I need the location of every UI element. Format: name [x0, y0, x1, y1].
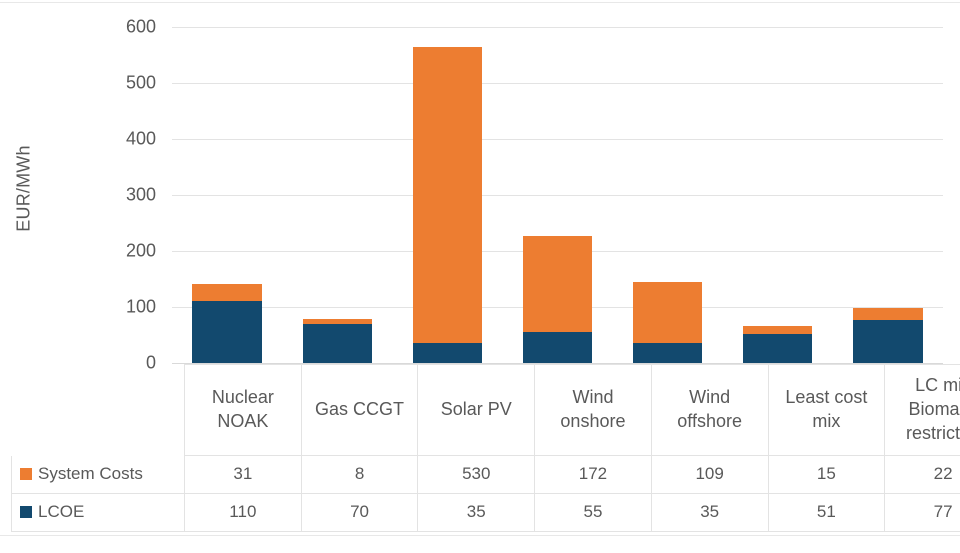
- bar-series-group: [172, 27, 943, 363]
- data-table: NuclearNOAKGas CCGTSolar PVWindonshoreWi…: [11, 364, 960, 532]
- table-cell-value: 55: [535, 494, 652, 532]
- table-cell-value: 8: [301, 456, 418, 494]
- category-label-line: onshore: [538, 410, 648, 434]
- y-tick-label-100: 100: [96, 297, 156, 318]
- table-row: System Costs3185301721091522: [12, 456, 960, 494]
- table-cell-value: 35: [418, 494, 535, 532]
- bar-segment-lcoe[interactable]: [743, 334, 812, 363]
- y-tick-label-400: 400: [96, 129, 156, 150]
- bar-column: [833, 27, 943, 363]
- category-label-line: Nuclear: [188, 386, 298, 410]
- category-header-cell: Least costmix: [768, 365, 885, 456]
- bar-stack[interactable]: [303, 319, 372, 363]
- table-cell-value: 530: [418, 456, 535, 494]
- legend-swatch-icon: [20, 468, 32, 480]
- category-header-cell: LC mixBiomassrestricted: [885, 365, 960, 456]
- table-cell-value: 109: [651, 456, 768, 494]
- category-label-line: offshore: [655, 410, 765, 434]
- category-label-line: restricted: [888, 422, 960, 446]
- category-label-line: Solar PV: [421, 398, 531, 422]
- table-cell-value: 22: [885, 456, 960, 494]
- bar-segment-system-costs[interactable]: [523, 236, 592, 332]
- bar-stack[interactable]: [853, 308, 922, 363]
- category-label-line: Least cost: [772, 386, 882, 410]
- table-row-categories: NuclearNOAKGas CCGTSolar PVWindonshoreWi…: [12, 365, 960, 456]
- bar-stack[interactable]: [413, 47, 482, 363]
- top-divider: [0, 2, 960, 3]
- y-axis-ticks: 0100200300400500600: [96, 27, 156, 363]
- bar-segment-lcoe[interactable]: [633, 343, 702, 363]
- chart-container: EUR/MWh 0100200300400500600 NuclearNOAKG…: [0, 0, 960, 553]
- category-label-line: Gas CCGT: [305, 398, 415, 422]
- bar-stack[interactable]: [633, 282, 702, 363]
- bar-segment-system-costs[interactable]: [413, 47, 482, 344]
- bar-column: [282, 27, 392, 363]
- bar-stack[interactable]: [743, 326, 812, 363]
- bar-stack[interactable]: [192, 284, 261, 363]
- bar-segment-lcoe[interactable]: [303, 324, 372, 363]
- table-cell-value: 110: [185, 494, 302, 532]
- table-cell-value: 51: [768, 494, 885, 532]
- category-header-cell: Windoffshore: [651, 365, 768, 456]
- y-axis-title: EUR/MWh: [14, 129, 35, 249]
- legend-entry[interactable]: LCOE: [12, 494, 185, 532]
- legend-label: System Costs: [38, 464, 143, 483]
- category-header-cell: NuclearNOAK: [185, 365, 302, 456]
- y-tick-label-300: 300: [96, 185, 156, 206]
- table-cell-value: 35: [651, 494, 768, 532]
- category-label-line: Biomass: [888, 398, 960, 422]
- table-cell-value: 70: [301, 494, 418, 532]
- category-label-line: Wind: [655, 386, 765, 410]
- bar-segment-system-costs[interactable]: [192, 284, 261, 301]
- bar-segment-system-costs[interactable]: [853, 308, 922, 320]
- table-cell-value: 77: [885, 494, 960, 532]
- bar-column: [392, 27, 502, 363]
- table-row: LCOE110703555355177: [12, 494, 960, 532]
- bar-column: [613, 27, 723, 363]
- plot-area: [172, 27, 943, 363]
- category-label-line: NOAK: [188, 410, 298, 434]
- legend-swatch-icon: [20, 506, 32, 518]
- bar-segment-system-costs[interactable]: [633, 282, 702, 343]
- bottom-divider: [0, 535, 960, 536]
- category-label-line: mix: [772, 410, 882, 434]
- category-header-cell: Solar PV: [418, 365, 535, 456]
- y-tick-label-600: 600: [96, 17, 156, 38]
- category-header-cell: Windonshore: [535, 365, 652, 456]
- legend-label: LCOE: [38, 502, 84, 521]
- table-cell-value: 172: [535, 456, 652, 494]
- table-corner-cell: [12, 365, 185, 456]
- y-tick-label-500: 500: [96, 73, 156, 94]
- bar-segment-lcoe[interactable]: [192, 301, 261, 363]
- bar-segment-lcoe[interactable]: [523, 332, 592, 363]
- y-tick-label-200: 200: [96, 241, 156, 262]
- bar-segment-lcoe[interactable]: [413, 343, 482, 363]
- bar-segment-system-costs[interactable]: [743, 326, 812, 334]
- bar-segment-lcoe[interactable]: [853, 320, 922, 363]
- category-header-cell: Gas CCGT: [301, 365, 418, 456]
- bar-column: [723, 27, 833, 363]
- category-label-line: LC mix: [888, 374, 960, 398]
- table-cell-value: 31: [185, 456, 302, 494]
- category-label-line: Wind: [538, 386, 648, 410]
- bar-column: [172, 27, 282, 363]
- bar-column: [502, 27, 612, 363]
- table-cell-value: 15: [768, 456, 885, 494]
- legend-entry[interactable]: System Costs: [12, 456, 185, 494]
- bar-stack[interactable]: [523, 236, 592, 363]
